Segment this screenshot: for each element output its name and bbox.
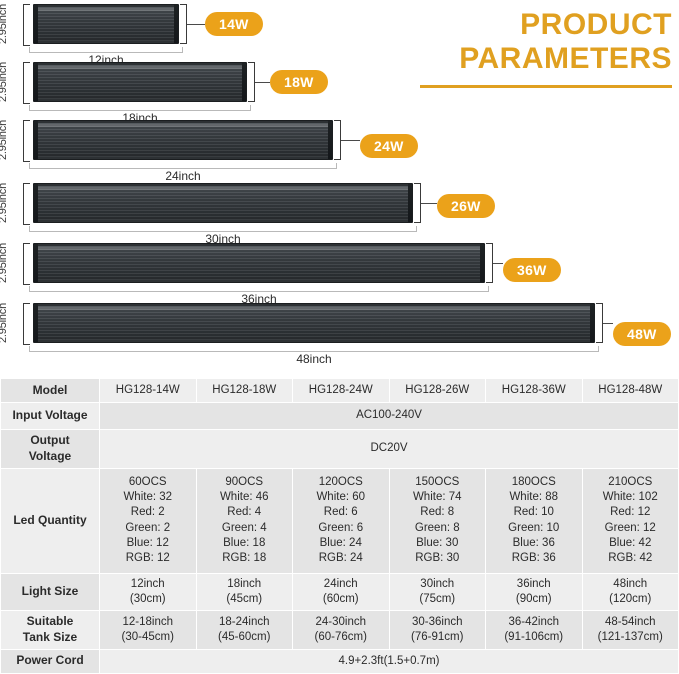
table-row-label: Model: [1, 379, 100, 403]
table-cell: 12inch(30cm): [100, 573, 197, 610]
aquarium-light-bar-graphic: [33, 4, 179, 44]
table-row: SuitableTank Size12-18inch(30-45cm)18-24…: [1, 611, 679, 650]
product-diagram-section: PRODUCT PARAMETERS 2.95inch12inch2.95inc…: [0, 0, 679, 372]
table-row: Power Cord4.9+2.3ft(1.5+0.7m): [1, 649, 679, 673]
table-cell: 30inch(75cm): [389, 573, 486, 610]
table-cell: 18inch(45cm): [196, 573, 293, 610]
table-cell-spanning: AC100-240V: [100, 403, 679, 430]
table-cell: 48-54inch(121-137cm): [582, 611, 679, 650]
bar-led-face: [36, 65, 244, 99]
specification-table: ModelHG128-14WHG128-18WHG128-24WHG128-26…: [0, 378, 679, 674]
table-cell: 180OCSWhite: 88Red: 10Green: 10Blue: 36R…: [486, 468, 583, 573]
table-row: ModelHG128-14WHG128-18WHG128-24WHG128-26…: [1, 379, 679, 403]
table-cell-spanning: DC20V: [100, 430, 679, 469]
bar-end-cap-right: [174, 5, 178, 43]
table-cell: 210OCSWhite: 102Red: 12Green: 12Blue: 42…: [582, 468, 679, 573]
table-cell: HG128-18W: [196, 379, 293, 403]
bar-end-cap-right: [242, 63, 246, 101]
wattage-badge: 36W: [503, 258, 561, 282]
end-cap-dimension-bracket: [334, 120, 341, 160]
table-row-label: Light Size: [1, 573, 100, 610]
table-cell-spanning: 4.9+2.3ft(1.5+0.7m): [100, 649, 679, 673]
height-dimension-bracket: [23, 303, 30, 345]
table-row: Input VoltageAC100-240V: [1, 403, 679, 430]
badge-leader-line: [341, 140, 360, 141]
aquarium-light-bar-graphic: [33, 243, 485, 283]
bar-height-label: 2.95inch: [0, 183, 9, 223]
bar-height-label: 2.95inch: [0, 243, 9, 283]
table-cell: 90OCSWhite: 46Red: 4Green: 4Blue: 18RGB:…: [196, 468, 293, 573]
bar-led-face: [36, 186, 410, 220]
aquarium-light-bar-graphic: [33, 183, 413, 223]
badge-leader-line: [493, 263, 503, 264]
table-cell: HG128-48W: [582, 379, 679, 403]
height-dimension-bracket: [23, 62, 30, 104]
badge-leader-line: [421, 203, 437, 204]
table-cell: HG128-36W: [486, 379, 583, 403]
light-bar-row: 2.95inch24inch: [0, 120, 679, 188]
aquarium-light-bar-graphic: [33, 120, 333, 160]
bar-highlight: [38, 8, 174, 11]
bar-height-label: 2.95inch: [0, 4, 9, 44]
table-cell: 18-24inch(45-60cm): [196, 611, 293, 650]
light-bar-row: 2.95inch30inch: [0, 183, 679, 251]
bar-led-face: [36, 7, 176, 41]
table-cell: 24-30inch(60-76cm): [293, 611, 390, 650]
bar-highlight: [38, 66, 242, 69]
table-cell: 12-18inch(30-45cm): [100, 611, 197, 650]
end-cap-dimension-bracket: [248, 62, 255, 102]
table-row-label: Led Quantity: [1, 468, 100, 573]
wattage-badge: 18W: [270, 70, 328, 94]
height-dimension-bracket: [23, 183, 30, 225]
badge-leader-line: [255, 82, 270, 83]
end-cap-dimension-bracket: [414, 183, 421, 223]
aquarium-light-bar-graphic: [33, 303, 595, 343]
table-cell: 36-42inch(91-106cm): [486, 611, 583, 650]
bar-end-cap-right: [590, 304, 594, 342]
table-row-label: Power Cord: [1, 649, 100, 673]
table-cell: 120OCSWhite: 60Red: 6Green: 6Blue: 24RGB…: [293, 468, 390, 573]
bar-height-label: 2.95inch: [0, 303, 9, 343]
aquarium-light-bar-graphic: [33, 62, 247, 102]
bar-highlight: [38, 124, 328, 127]
bar-end-cap-right: [480, 244, 484, 282]
bar-highlight: [38, 247, 480, 250]
bar-led-face: [36, 306, 592, 340]
bar-height-label: 2.95inch: [0, 120, 9, 160]
table-row-label: Input Voltage: [1, 403, 100, 430]
bar-width-label: 48inch: [29, 352, 599, 366]
height-dimension-bracket: [23, 243, 30, 285]
table-row-label: SuitableTank Size: [1, 611, 100, 650]
table-cell: 150OCSWhite: 74Red: 8Green: 8Blue: 30RGB…: [389, 468, 486, 573]
end-cap-dimension-bracket: [596, 303, 603, 343]
table-cell: 30-36inch(76-91cm): [389, 611, 486, 650]
badge-leader-line: [603, 323, 613, 324]
table-row-label: OutputVoltage: [1, 430, 100, 469]
bar-led-face: [36, 123, 330, 157]
wattage-badge: 26W: [437, 194, 495, 218]
table-row: OutputVoltageDC20V: [1, 430, 679, 469]
bar-end-cap-right: [328, 121, 332, 159]
bar-highlight: [38, 307, 590, 310]
light-bar-row: 2.95inch48inch: [0, 303, 679, 371]
table-row: Led Quantity60OCSWhite: 32Red: 2Green: 2…: [1, 468, 679, 573]
height-dimension-bracket: [23, 4, 30, 46]
bar-end-cap-right: [408, 184, 412, 222]
table-cell: 60OCSWhite: 32Red: 2Green: 2Blue: 12RGB:…: [100, 468, 197, 573]
table-cell: 48inch(120cm): [582, 573, 679, 610]
bar-highlight: [38, 187, 408, 190]
table-cell: HG128-26W: [389, 379, 486, 403]
table-cell: HG128-24W: [293, 379, 390, 403]
wattage-badge: 14W: [205, 12, 263, 36]
table-row: Light Size12inch(30cm)18inch(45cm)24inch…: [1, 573, 679, 610]
height-dimension-bracket: [23, 120, 30, 162]
table-cell: 24inch(60cm): [293, 573, 390, 610]
light-bar-row: 2.95inch36inch: [0, 243, 679, 311]
end-cap-dimension-bracket: [486, 243, 493, 283]
bar-height-label: 2.95inch: [0, 62, 9, 102]
bar-led-face: [36, 246, 482, 280]
end-cap-dimension-bracket: [180, 4, 187, 44]
wattage-badge: 24W: [360, 134, 418, 158]
badge-leader-line: [187, 24, 205, 25]
table-cell: 36inch(90cm): [486, 573, 583, 610]
bar-width-label: 24inch: [29, 169, 337, 183]
table-cell: HG128-14W: [100, 379, 197, 403]
wattage-badge: 48W: [613, 322, 671, 346]
